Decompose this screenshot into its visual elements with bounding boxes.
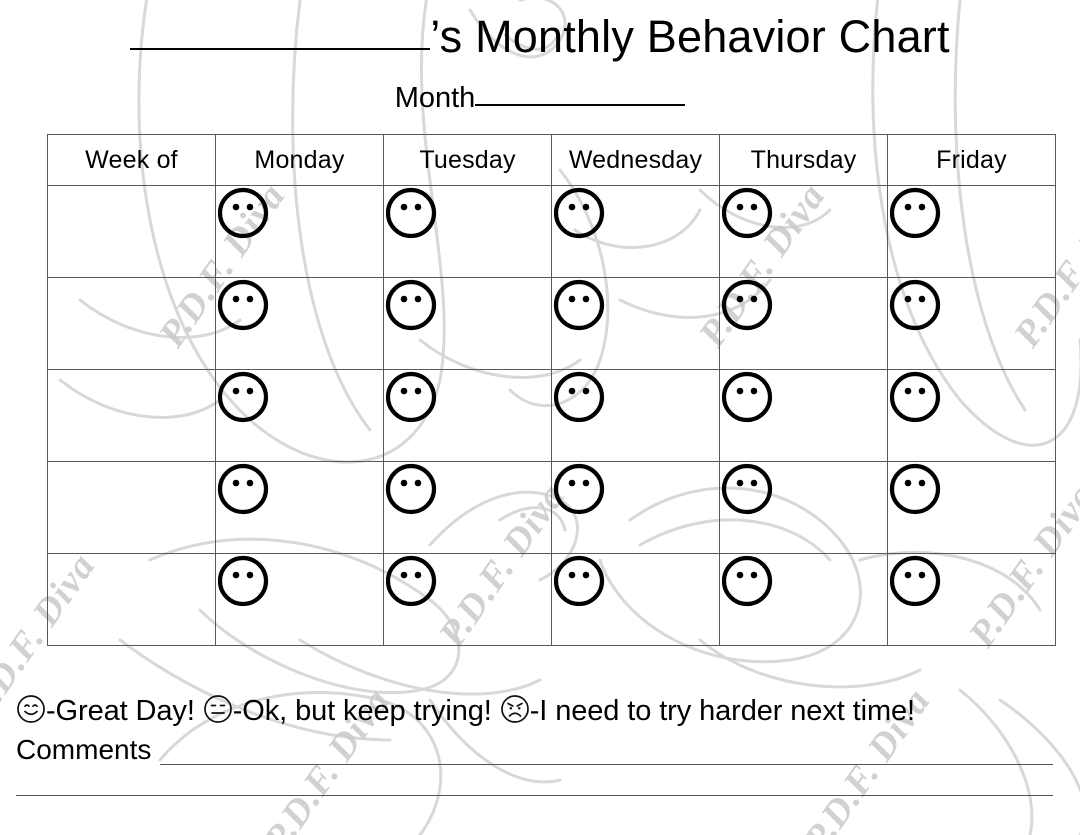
blank-face-icon [552,462,719,516]
day-cell[interactable] [552,186,720,278]
day-cell[interactable] [888,278,1056,370]
behavior-chart-page: P.D.F. Diva P.D.F. Diva P.D.F. Diva P.D.… [0,0,1080,835]
day-cell[interactable] [888,370,1056,462]
month-label: Month [395,82,476,114]
day-cell[interactable] [216,370,384,462]
day-cell[interactable] [888,186,1056,278]
table-row [48,370,1056,462]
day-cell[interactable] [552,554,720,646]
blank-face-icon [720,186,887,240]
smiling-face-icon [16,694,46,724]
table-row [48,278,1056,370]
blank-face-icon [552,278,719,332]
day-cell[interactable] [216,186,384,278]
blank-face-icon [888,462,1055,516]
day-cell[interactable] [384,278,552,370]
column-header-wednesday: Wednesday [552,135,720,186]
week-of-cell[interactable] [48,370,216,462]
day-cell[interactable] [552,278,720,370]
blank-face-icon [216,462,383,516]
blank-face-icon [552,370,719,424]
day-cell[interactable] [384,370,552,462]
week-of-cell[interactable] [48,462,216,554]
table-row [48,186,1056,278]
blank-face-icon [888,186,1055,240]
day-cell[interactable] [720,278,888,370]
blank-face-icon [888,370,1055,424]
day-cell[interactable] [720,186,888,278]
blank-face-icon [720,462,887,516]
blank-face-icon [720,370,887,424]
blank-face-icon [888,554,1055,608]
column-header-tuesday: Tuesday [384,135,552,186]
week-of-cell[interactable] [48,278,216,370]
month-field-row: Month [0,84,1080,113]
table-body [48,186,1056,646]
day-cell[interactable] [720,554,888,646]
column-header-friday: Friday [888,135,1056,186]
page-title-text: ’s Monthly Behavior Chart [430,11,949,62]
frowning-face-icon [500,694,530,724]
day-cell[interactable] [888,554,1056,646]
table-row [48,462,1056,554]
week-of-cell[interactable] [48,554,216,646]
table-row [48,554,1056,646]
blank-face-icon [216,370,383,424]
blank-face-icon [720,554,887,608]
day-cell[interactable] [552,462,720,554]
day-cell[interactable] [720,462,888,554]
week-of-cell[interactable] [48,186,216,278]
column-header-thursday: Thursday [720,135,888,186]
legend-neutral-text: -Ok, but keep trying! [233,695,492,727]
page-title: ’s Monthly Behavior Chart [0,14,1080,59]
column-header-week-of: Week of [48,135,216,186]
neutral-face-icon [203,694,233,724]
month-blank[interactable] [475,104,685,106]
blank-face-icon [216,278,383,332]
day-cell[interactable] [216,554,384,646]
legend-sad-text: -I need to try harder next time! [530,695,915,727]
blank-face-icon [216,554,383,608]
blank-face-icon [384,554,551,608]
day-cell[interactable] [552,370,720,462]
day-cell[interactable] [384,186,552,278]
day-cell[interactable] [216,462,384,554]
day-cell[interactable] [384,554,552,646]
comments-line-1[interactable] [160,764,1053,765]
blank-face-icon [888,278,1055,332]
legend-row: -Great Day! -Ok, but keep trying! [16,694,915,728]
day-cell[interactable] [384,462,552,554]
day-cell[interactable] [888,462,1056,554]
comments-line-2[interactable] [16,795,1053,796]
blank-face-icon [384,186,551,240]
blank-face-icon [216,186,383,240]
blank-face-icon [384,370,551,424]
column-header-monday: Monday [216,135,384,186]
table-header-row: Week of Monday Tuesday Wednesday Thursda… [48,135,1056,186]
student-name-blank[interactable] [130,48,430,50]
day-cell[interactable] [720,370,888,462]
blank-face-icon [384,462,551,516]
blank-face-icon [720,278,887,332]
blank-face-icon [384,278,551,332]
legend-happy-text: -Great Day! [46,695,195,727]
blank-face-icon [552,186,719,240]
blank-face-icon [552,554,719,608]
behavior-chart-table: Week of Monday Tuesday Wednesday Thursda… [47,134,1056,646]
comments-label: Comments [16,736,151,764]
day-cell[interactable] [216,278,384,370]
